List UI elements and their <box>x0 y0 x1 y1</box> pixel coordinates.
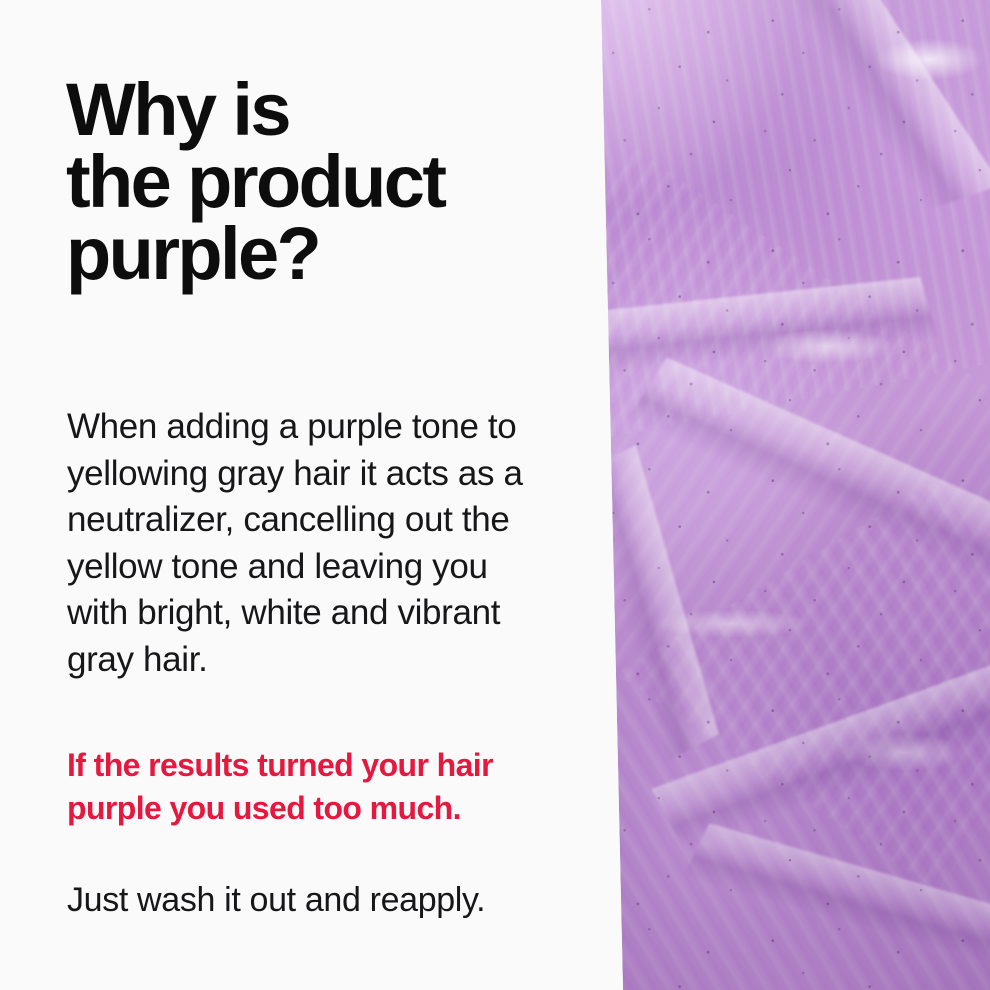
warning-paragraph: If the results turned your hair purple y… <box>67 744 587 830</box>
closing-paragraph: Just wash it out and reapply. <box>67 878 587 922</box>
product-texture-photo <box>560 0 990 990</box>
texture-speckles <box>560 0 990 990</box>
body-paragraph: When adding a purple tone to yellowing g… <box>67 404 587 683</box>
product-info-graphic: Why is the product purple? When adding a… <box>0 0 990 990</box>
text-panel: Why is the product purple? When adding a… <box>0 0 600 990</box>
page-title: Why is the product purple? <box>66 74 586 289</box>
